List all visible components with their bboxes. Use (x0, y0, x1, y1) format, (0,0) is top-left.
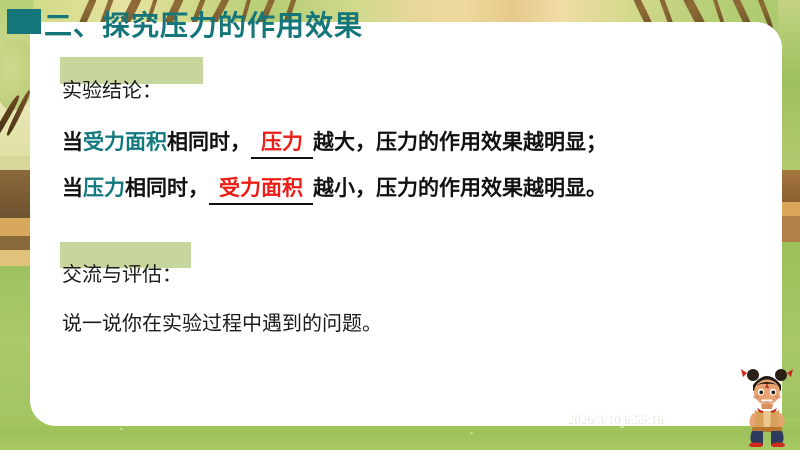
line1-seg-4: 越大，压力的作用效果越明显； (313, 130, 607, 154)
line2-seg-4: 越小，压力的作用效果越明显。 (313, 176, 607, 200)
line2-seg-2: 相同时， (125, 176, 209, 200)
line2-answer-blank: 受力面积 (209, 172, 313, 205)
line1-seg-teal: 受力面积 (83, 130, 167, 154)
line1-seg-0: 当 (62, 130, 83, 154)
line2-seg-0: 当 (62, 176, 83, 200)
title-square-marker (7, 9, 41, 34)
nezha-mascot-icon (739, 363, 795, 447)
discussion-text: 说一说你在实验过程中遇到的问题。 (62, 307, 382, 336)
conclusion-line-2: 当压力相同时，受力面积越小，压力的作用效果越明显。 (62, 172, 607, 205)
line2-seg-teal: 压力 (83, 176, 125, 200)
line1-answer-blank: 压力 (251, 126, 313, 159)
timestamp-watermark: 2026/3/10 6:55:16 (568, 412, 664, 428)
conclusion-label: 实验结论： (62, 74, 162, 103)
line1-seg-2: 相同时， (167, 130, 251, 154)
discussion-label: 交流与评估： (62, 258, 182, 287)
slide-canvas: 二、探究压力的作用效果 实验结论： 当受力面积相同时，压力越大，压力的作用效果越… (0, 0, 800, 450)
page-title: 二、探究压力的作用效果 (44, 4, 363, 44)
conclusion-line-1: 当受力面积相同时，压力越大，压力的作用效果越明显； (62, 126, 607, 159)
background-left-strip (0, 0, 34, 450)
